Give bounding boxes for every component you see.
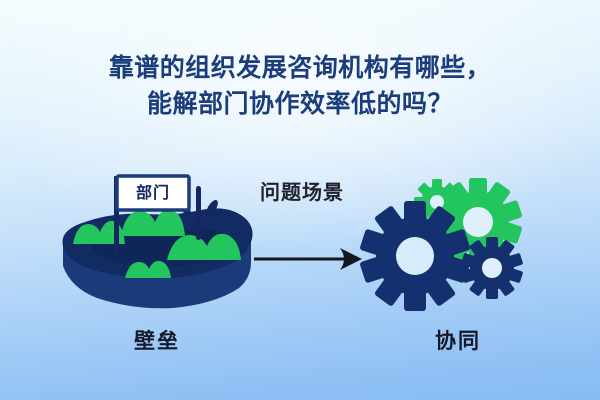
island-illustration: 部门 [55,168,260,318]
title-line-2: 能解部门协作效率低的吗？ [0,86,600,122]
caption-barrier: 壁垒 [77,325,237,355]
caption-collaboration: 协同 [378,325,538,355]
page-title: 靠谱的组织发展咨询机构有哪些， 能解部门协作效率低的吗？ [0,50,600,122]
bush-center [121,210,185,236]
gears-illustration [355,174,530,309]
sapling-stem [196,186,201,240]
poster-canvas: 靠谱的组织发展咨询机构有哪些， 能解部门协作效率低的吗？ [0,0,600,400]
arrow-svg [252,242,367,276]
flag-label: 部门 [136,183,170,202]
gear-small-navy [461,237,524,299]
island-svg: 部门 [55,168,260,318]
gear-large-navy [359,201,470,311]
scenario-label: 问题场景 [232,176,372,205]
transition-arrow [252,242,367,276]
gears-svg [355,174,530,309]
title-line-1: 靠谱的组织发展咨询机构有哪些， [0,50,600,86]
